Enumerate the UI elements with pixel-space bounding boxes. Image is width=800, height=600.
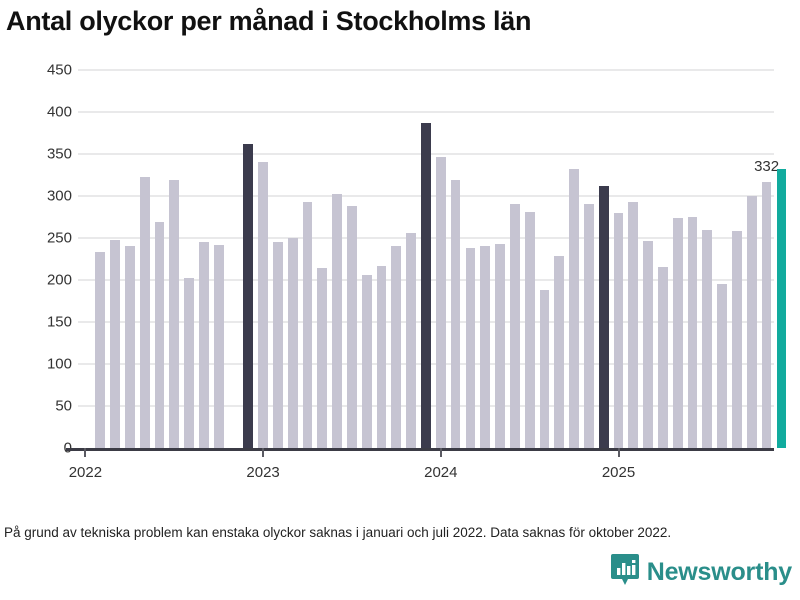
- x-axis-line: [66, 448, 774, 451]
- bar[interactable]: [303, 202, 313, 448]
- y-axis-tick-label: 100: [12, 356, 72, 373]
- bar[interactable]: [332, 194, 342, 448]
- y-axis-tick-label: 450: [12, 62, 72, 79]
- y-axis-tick-label: 200: [12, 272, 72, 289]
- bar[interactable]: [436, 157, 446, 448]
- x-axis-tick-label: 2025: [602, 464, 635, 481]
- y-axis-tick-label: 400: [12, 104, 72, 121]
- bar-chart-pin-icon: [610, 553, 640, 592]
- y-axis-tick-label: 150: [12, 314, 72, 331]
- bar[interactable]: [199, 242, 209, 448]
- bar[interactable]: [214, 245, 224, 448]
- bar[interactable]: [347, 206, 357, 448]
- bar-value-label: 332: [754, 158, 779, 175]
- brand-logo: Newsworthy: [610, 553, 792, 592]
- bar[interactable]: [451, 180, 461, 448]
- gridline: [78, 111, 774, 113]
- bar[interactable]: [110, 240, 120, 448]
- y-axis-tick-label: 350: [12, 146, 72, 163]
- bar[interactable]: [155, 222, 165, 448]
- y-axis-tick-label: 300: [12, 188, 72, 205]
- bar[interactable]: [243, 144, 253, 448]
- bar[interactable]: [184, 278, 194, 448]
- bar[interactable]: [525, 212, 535, 448]
- bar[interactable]: [614, 213, 624, 448]
- bar[interactable]: [510, 204, 520, 448]
- bar[interactable]: [95, 252, 105, 448]
- bar[interactable]: [169, 180, 179, 448]
- bar[interactable]: [362, 275, 372, 448]
- bar[interactable]: [288, 238, 298, 448]
- bar[interactable]: [747, 196, 757, 448]
- bar[interactable]: [717, 284, 727, 448]
- x-axis-tick-label: 2022: [69, 464, 102, 481]
- bar[interactable]: [584, 204, 594, 448]
- x-axis-tick-label: 2024: [424, 464, 457, 481]
- bar[interactable]: [377, 266, 387, 448]
- bar[interactable]: [599, 186, 609, 448]
- bar[interactable]: [569, 169, 579, 448]
- brand-name: Newsworthy: [647, 558, 792, 587]
- bar[interactable]: [777, 169, 787, 448]
- bar[interactable]: [673, 218, 683, 448]
- x-axis-tick: [84, 448, 86, 457]
- bar[interactable]: [732, 231, 742, 448]
- bar[interactable]: [762, 182, 772, 448]
- chart-plot-area: 0501001502002503003504004503322022202320…: [78, 70, 774, 448]
- bar[interactable]: [540, 290, 550, 448]
- y-axis-tick-label: 0: [12, 440, 72, 457]
- page-title: Antal olyckor per månad i Stockholms län: [6, 6, 531, 37]
- bar[interactable]: [495, 244, 505, 448]
- bar[interactable]: [125, 246, 135, 448]
- bar[interactable]: [702, 230, 712, 448]
- bar[interactable]: [466, 248, 476, 448]
- bar[interactable]: [391, 246, 401, 448]
- bar[interactable]: [273, 242, 283, 448]
- x-axis-tick: [618, 448, 620, 457]
- bar[interactable]: [688, 217, 698, 448]
- x-axis-tick: [440, 448, 442, 457]
- y-axis-tick-label: 250: [12, 230, 72, 247]
- bar[interactable]: [317, 268, 327, 448]
- x-axis-tick-label: 2023: [246, 464, 279, 481]
- y-axis-tick-label: 50: [12, 398, 72, 415]
- bar[interactable]: [406, 233, 416, 448]
- bar[interactable]: [643, 241, 653, 448]
- chart-footnote: På grund av tekniska problem kan enstaka…: [4, 524, 774, 543]
- x-axis-tick: [262, 448, 264, 457]
- bar[interactable]: [258, 162, 268, 448]
- bar[interactable]: [628, 202, 638, 448]
- bar[interactable]: [480, 246, 490, 448]
- bar[interactable]: [658, 267, 668, 448]
- bar[interactable]: [140, 177, 150, 448]
- gridline: [78, 69, 774, 71]
- bar[interactable]: [421, 123, 431, 448]
- bar[interactable]: [554, 256, 564, 448]
